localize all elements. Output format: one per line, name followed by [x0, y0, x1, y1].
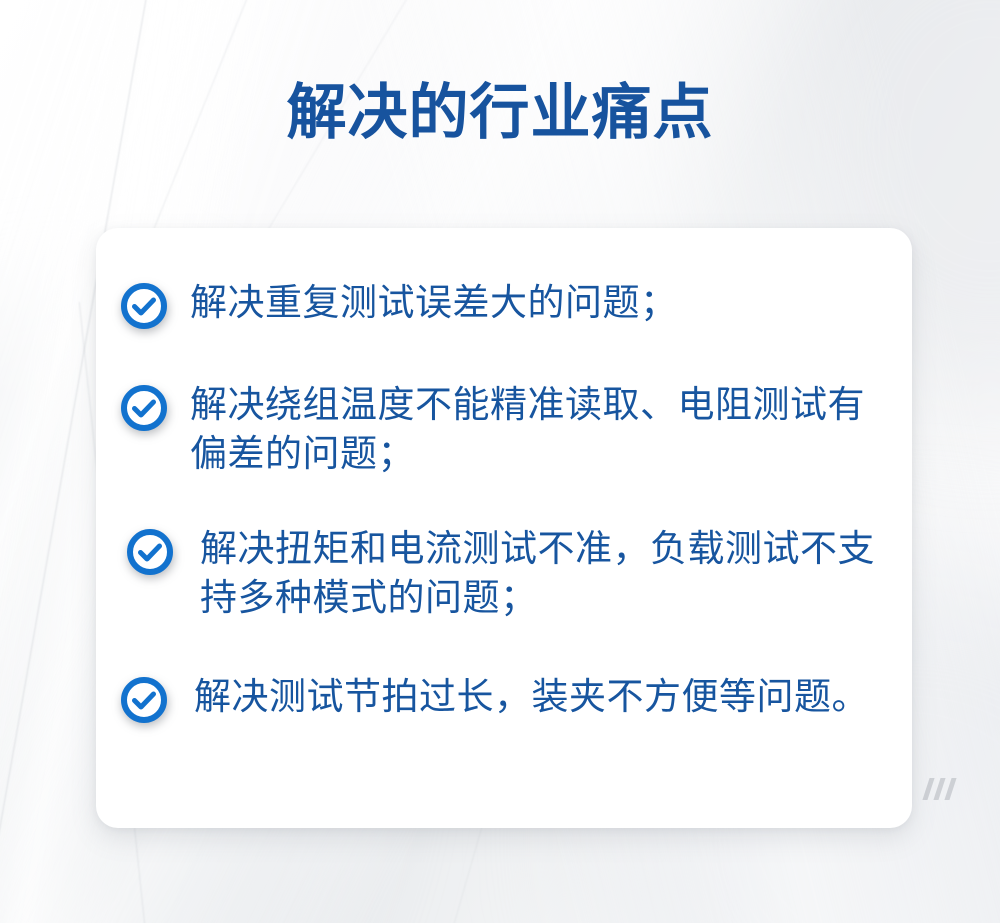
check-circle-icon [120, 676, 168, 724]
list-item: 解决测试节拍过长，装夹不方便等问题。 [120, 672, 900, 724]
check-circle-icon [120, 384, 168, 432]
list-item-label: 解决绕组温度不能精准读取、电阻测试有偏差的问题； [168, 380, 900, 478]
check-circle-icon [126, 528, 174, 576]
pain-points-card: 解决重复测试误差大的问题； 解决绕组温度不能精准读取、电阻测试有偏差的问题； [96, 228, 912, 828]
slide-page: Ainuo 电力电子测试方案专业提供商 解决的行业痛点 解决重复测试误差大的问题… [0, 0, 1000, 923]
list-item-label: 解决测试节拍过长，装夹不方便等问题。 [168, 672, 900, 721]
check-circle-icon [120, 282, 168, 330]
list-item: 解决绕组温度不能精准读取、电阻测试有偏差的问题； [120, 380, 900, 478]
list-item-label: 解决重复测试误差大的问题； [168, 278, 900, 327]
page-title: 解决的行业痛点 [0, 78, 1000, 148]
pain-points-list: 解决重复测试误差大的问题； 解决绕组温度不能精准读取、电阻测试有偏差的问题； [96, 228, 912, 828]
list-item: 解决扭矩和电流测试不准，负载测试不支持多种模式的问题； [126, 524, 906, 622]
list-item: 解决重复测试误差大的问题； [120, 278, 900, 330]
list-item-label: 解决扭矩和电流测试不准，负载测试不支持多种模式的问题； [174, 524, 906, 622]
